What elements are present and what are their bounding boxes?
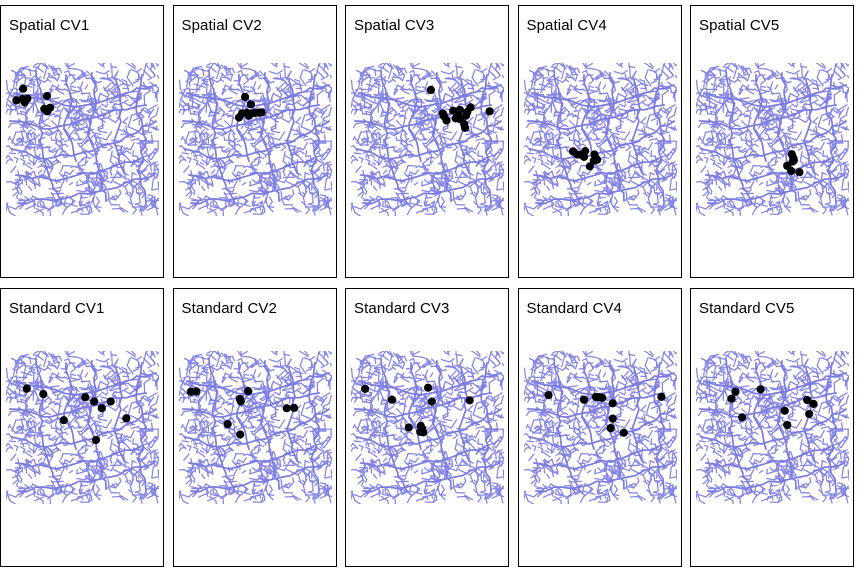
panel-title: Standard CV2 (182, 301, 277, 317)
panel-standard-cv5: Standard CV5 (690, 288, 854, 567)
panel-spatial-cv3: Spatial CV3 (345, 5, 509, 278)
river-network-lines (524, 351, 677, 504)
panel-spatial-cv5: Spatial CV5 (690, 5, 854, 278)
panel-title: Spatial CV4 (527, 18, 607, 34)
river-network-lines (179, 351, 332, 504)
panel-title: Spatial CV2 (182, 18, 262, 34)
cv-fold-figure: Spatial CV1Spatial CV2Spatial CV3Spatial… (0, 0, 864, 576)
panel-title: Standard CV4 (527, 301, 622, 317)
river-network-map (351, 351, 504, 504)
river-network-map (179, 63, 332, 216)
river-network-map (524, 63, 677, 216)
panel-spatial-cv4: Spatial CV4 (518, 5, 682, 278)
spatial-cv-row: Spatial CV1Spatial CV2Spatial CV3Spatial… (0, 5, 864, 278)
river-network-map (6, 351, 159, 504)
river-network-map (6, 63, 159, 216)
river-network-map (351, 63, 504, 216)
river-network-lines (351, 63, 504, 216)
panel-standard-cv1: Standard CV1 (0, 288, 164, 567)
panel-standard-cv4: Standard CV4 (518, 288, 682, 567)
river-network-lines (6, 63, 159, 216)
river-network-lines (351, 351, 504, 504)
panel-title: Spatial CV1 (9, 18, 89, 34)
panel-title: Spatial CV3 (354, 18, 434, 34)
standard-cv-row: Standard CV1Standard CV2Standard CV3Stan… (0, 288, 864, 567)
river-network-lines (696, 63, 849, 216)
panel-spatial-cv1: Spatial CV1 (0, 5, 164, 278)
river-network-lines (524, 63, 677, 216)
river-network-map (179, 351, 332, 504)
river-network-lines (179, 63, 332, 216)
river-network-map (696, 351, 849, 504)
river-network-map (524, 351, 677, 504)
panel-title: Standard CV3 (354, 301, 449, 317)
panel-standard-cv3: Standard CV3 (345, 288, 509, 567)
river-network-lines (6, 351, 159, 504)
panel-title: Spatial CV5 (699, 18, 779, 34)
river-network-lines (696, 351, 849, 504)
panel-spatial-cv2: Spatial CV2 (173, 5, 337, 278)
panel-standard-cv2: Standard CV2 (173, 288, 337, 567)
panel-title: Standard CV5 (699, 301, 794, 317)
panel-title: Standard CV1 (9, 301, 104, 317)
river-network-map (696, 63, 849, 216)
